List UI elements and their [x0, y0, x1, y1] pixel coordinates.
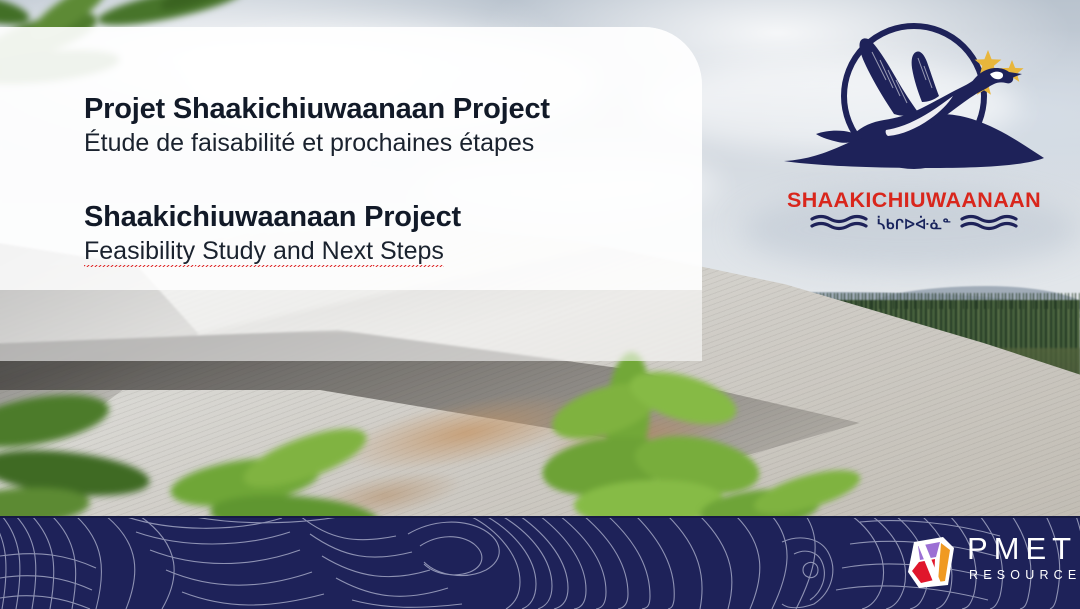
french-subtitle: Étude de faisabilité et prochaines étape… [84, 127, 684, 160]
spruce-branch-left-mid [0, 378, 180, 538]
footer-top-rule [0, 516, 1080, 518]
shaakichiuwaanaan-wordmark: SHAAKICHIUWAANAAN [776, 188, 1052, 213]
pmet-subtitle: RESOURCES [969, 569, 1080, 582]
english-subtitle-word-1: Feasibility [84, 237, 195, 267]
shaakichiuwaanaan-mark [776, 18, 1052, 193]
english-subtitle-word-2: Study and Next [195, 237, 373, 267]
title-block: Projet Shaakichiuwaanaan Project Étude d… [84, 92, 684, 268]
english-subtitle: Feasibility Study and Next Steps [84, 235, 684, 268]
shaakichiuwaanaan-syllabics: ᓵᑲᒋᐅᐚᓈᓐ [877, 216, 952, 232]
goose-wing-upper-icon [859, 38, 918, 115]
shaakichiuwaanaan-logo: SHAAKICHIUWAANAAN ᓵᑲᒋᐅᐚᓈᓐ [776, 18, 1052, 246]
shaakichiuwaanaan-syllabics-row: ᓵᑲᒋᐅᐚᓈᓐ [776, 216, 1052, 233]
presentation-slide: Projet Shaakichiuwaanaan Project Étude d… [0, 0, 1080, 609]
gem-crystal-icon [905, 534, 957, 590]
english-subtitle-word-3: Steps [373, 237, 444, 267]
french-title: Projet Shaakichiuwaanaan Project [84, 92, 684, 127]
pmet-wordmark: PMET [967, 533, 1077, 564]
english-title: Shaakichiuwaanaan Project [84, 200, 684, 235]
pmet-resources-logo: PMET RESOURCES [905, 531, 1065, 593]
